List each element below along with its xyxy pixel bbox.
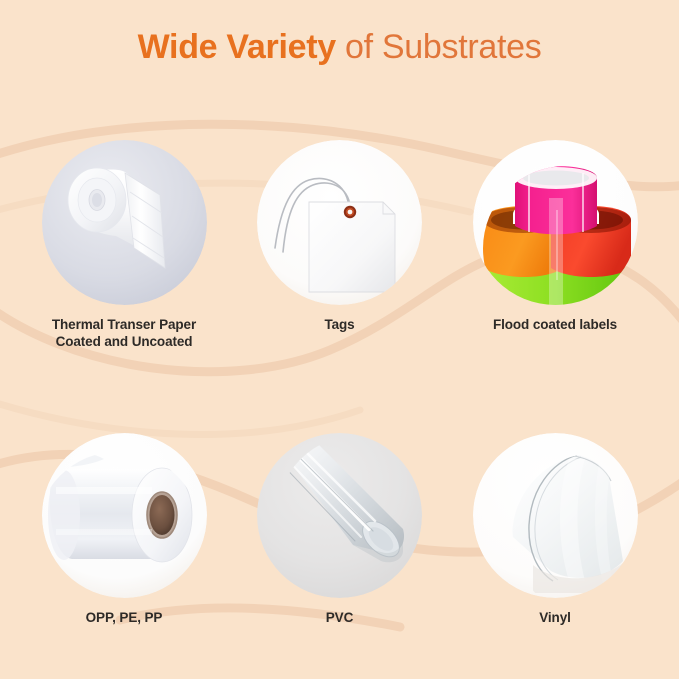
page-title: Wide Variety of Substrates: [0, 28, 679, 67]
substrate-caption: Flood coated labels: [493, 316, 617, 333]
clear-pvc-sheet-roll-image: [257, 433, 422, 598]
substrate-item-vinyl[interactable]: Vinyl: [455, 433, 655, 626]
infographic-page: Wide Variety of Substrates: [0, 0, 679, 679]
substrate-caption: Tags: [324, 316, 354, 333]
substrate-item-tags[interactable]: Tags: [240, 140, 440, 351]
substrate-item-flood-coated-labels[interactable]: Flood coated labels: [455, 140, 655, 351]
substrate-grid: Thermal Transer Paper Coated and Uncoate…: [24, 140, 655, 626]
substrate-item-pvc[interactable]: PVC: [240, 433, 440, 626]
substrate-row-1: Thermal Transer Paper Coated and Uncoate…: [24, 140, 655, 351]
plastic-film-roll-image: [42, 433, 207, 598]
clear-vinyl-sheet-roll-image: [473, 433, 638, 598]
substrate-row-2: OPP, PE, PP: [24, 433, 655, 626]
page-title-light: of Substrates: [336, 28, 542, 66]
substrate-item-opp-pe-pp[interactable]: OPP, PE, PP: [24, 433, 224, 626]
page-title-bold: Wide Variety: [138, 28, 336, 66]
substrate-caption: Thermal Transer Paper Coated and Uncoate…: [52, 316, 196, 351]
page-title-wrapper: Wide Variety of Substrates: [0, 28, 679, 67]
thermal-label-roll-image: [42, 140, 207, 305]
substrate-caption: Vinyl: [539, 609, 571, 626]
fluorescent-label-rolls-image: [473, 140, 638, 305]
paper-tag-with-string-image: [257, 140, 422, 305]
substrate-caption: OPP, PE, PP: [86, 609, 163, 626]
substrate-item-thermal-transfer-paper[interactable]: Thermal Transer Paper Coated and Uncoate…: [24, 140, 224, 351]
substrate-caption: PVC: [326, 609, 353, 626]
